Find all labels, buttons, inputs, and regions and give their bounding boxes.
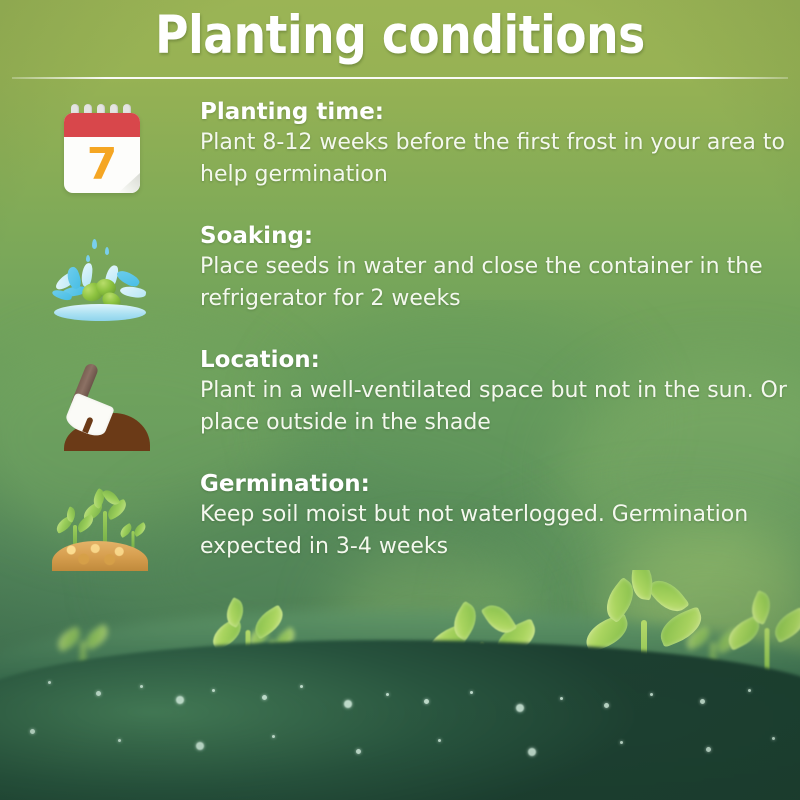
list-item: Soaking: Place seeds in water and close … — [0, 222, 800, 346]
header-divider — [12, 77, 788, 79]
section-text-cell: Location: Plant in a well-ventilated spa… — [200, 346, 800, 438]
section-body: Plant in a well-ventilated space but not… — [200, 375, 792, 437]
section-body: Place seeds in water and close the conta… — [200, 251, 792, 313]
seedlings-soil-icon — [50, 487, 150, 573]
calendar-icon: 7 — [64, 113, 140, 193]
poster-header: Planting conditions — [0, 0, 800, 92]
section-body: Plant 8-12 weeks before the first frost … — [200, 127, 792, 189]
planting-conditions-infographic: Planting conditions 7 — [0, 0, 800, 800]
section-text-cell: Planting time: Plant 8-12 weeks before t… — [200, 98, 800, 190]
section-title: Soaking: — [200, 222, 792, 251]
list-item: Location: Plant in a well-ventilated spa… — [0, 346, 800, 470]
list-item: Germination: Keep soil moist but not wat… — [0, 470, 800, 594]
trowel-soil-icon — [52, 359, 150, 451]
seedling-macro-photo — [0, 570, 800, 800]
section-text-cell: Germination: Keep soil moist but not wat… — [200, 470, 800, 562]
section-title: Location: — [200, 346, 792, 375]
section-body: Keep soil moist but not waterlogged. Ger… — [200, 499, 792, 561]
section-text-cell: Soaking: Place seeds in water and close … — [200, 222, 800, 314]
list-item: 7 Planting time: Plant 8-12 weeks before… — [0, 98, 800, 222]
section-icon-cell — [0, 222, 200, 336]
section-icon-cell — [0, 346, 200, 460]
section-icon-cell — [0, 470, 200, 584]
section-icon-cell: 7 — [0, 98, 200, 212]
page-title: Planting conditions — [56, 0, 744, 64]
conditions-list: 7 Planting time: Plant 8-12 weeks before… — [0, 98, 800, 594]
water-splash-seeds-icon — [48, 239, 152, 325]
section-title: Planting time: — [200, 98, 792, 127]
section-title: Germination: — [200, 470, 792, 499]
